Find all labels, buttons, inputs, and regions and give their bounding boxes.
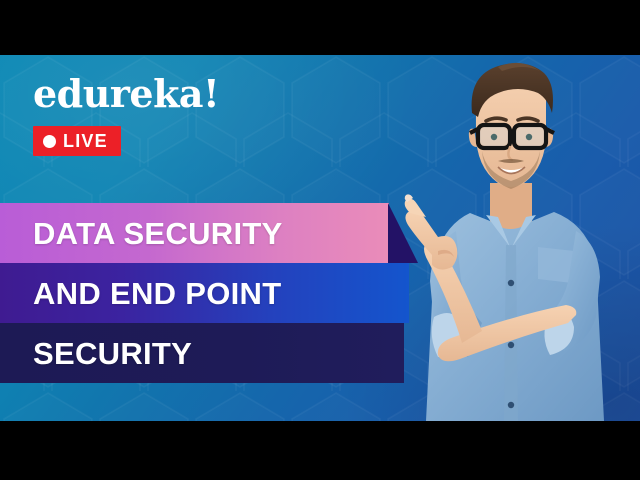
title-bands: DATA SECURITY AND END POINT SECURITY (0, 203, 440, 383)
live-badge: LIVE (33, 126, 121, 156)
title-band-2: AND END POINT (0, 263, 440, 323)
title-band-1: DATA SECURITY (0, 203, 440, 263)
brand-block: edureka! LIVE (33, 75, 219, 156)
video-thumbnail: edureka! LIVE (0, 0, 640, 480)
title-band-3: SECURITY (0, 323, 440, 383)
title-line-1: DATA SECURITY (33, 218, 283, 249)
presenter-image (398, 55, 640, 421)
live-dot-icon (43, 135, 56, 148)
thumbnail-canvas: edureka! LIVE (0, 55, 640, 421)
title-line-2: AND END POINT (33, 278, 281, 309)
letterbox-bottom (0, 421, 640, 480)
live-badge-label: LIVE (63, 132, 108, 150)
edureka-logo: edureka! (33, 75, 219, 113)
letterbox-top (0, 0, 640, 55)
title-line-3: SECURITY (33, 338, 192, 369)
